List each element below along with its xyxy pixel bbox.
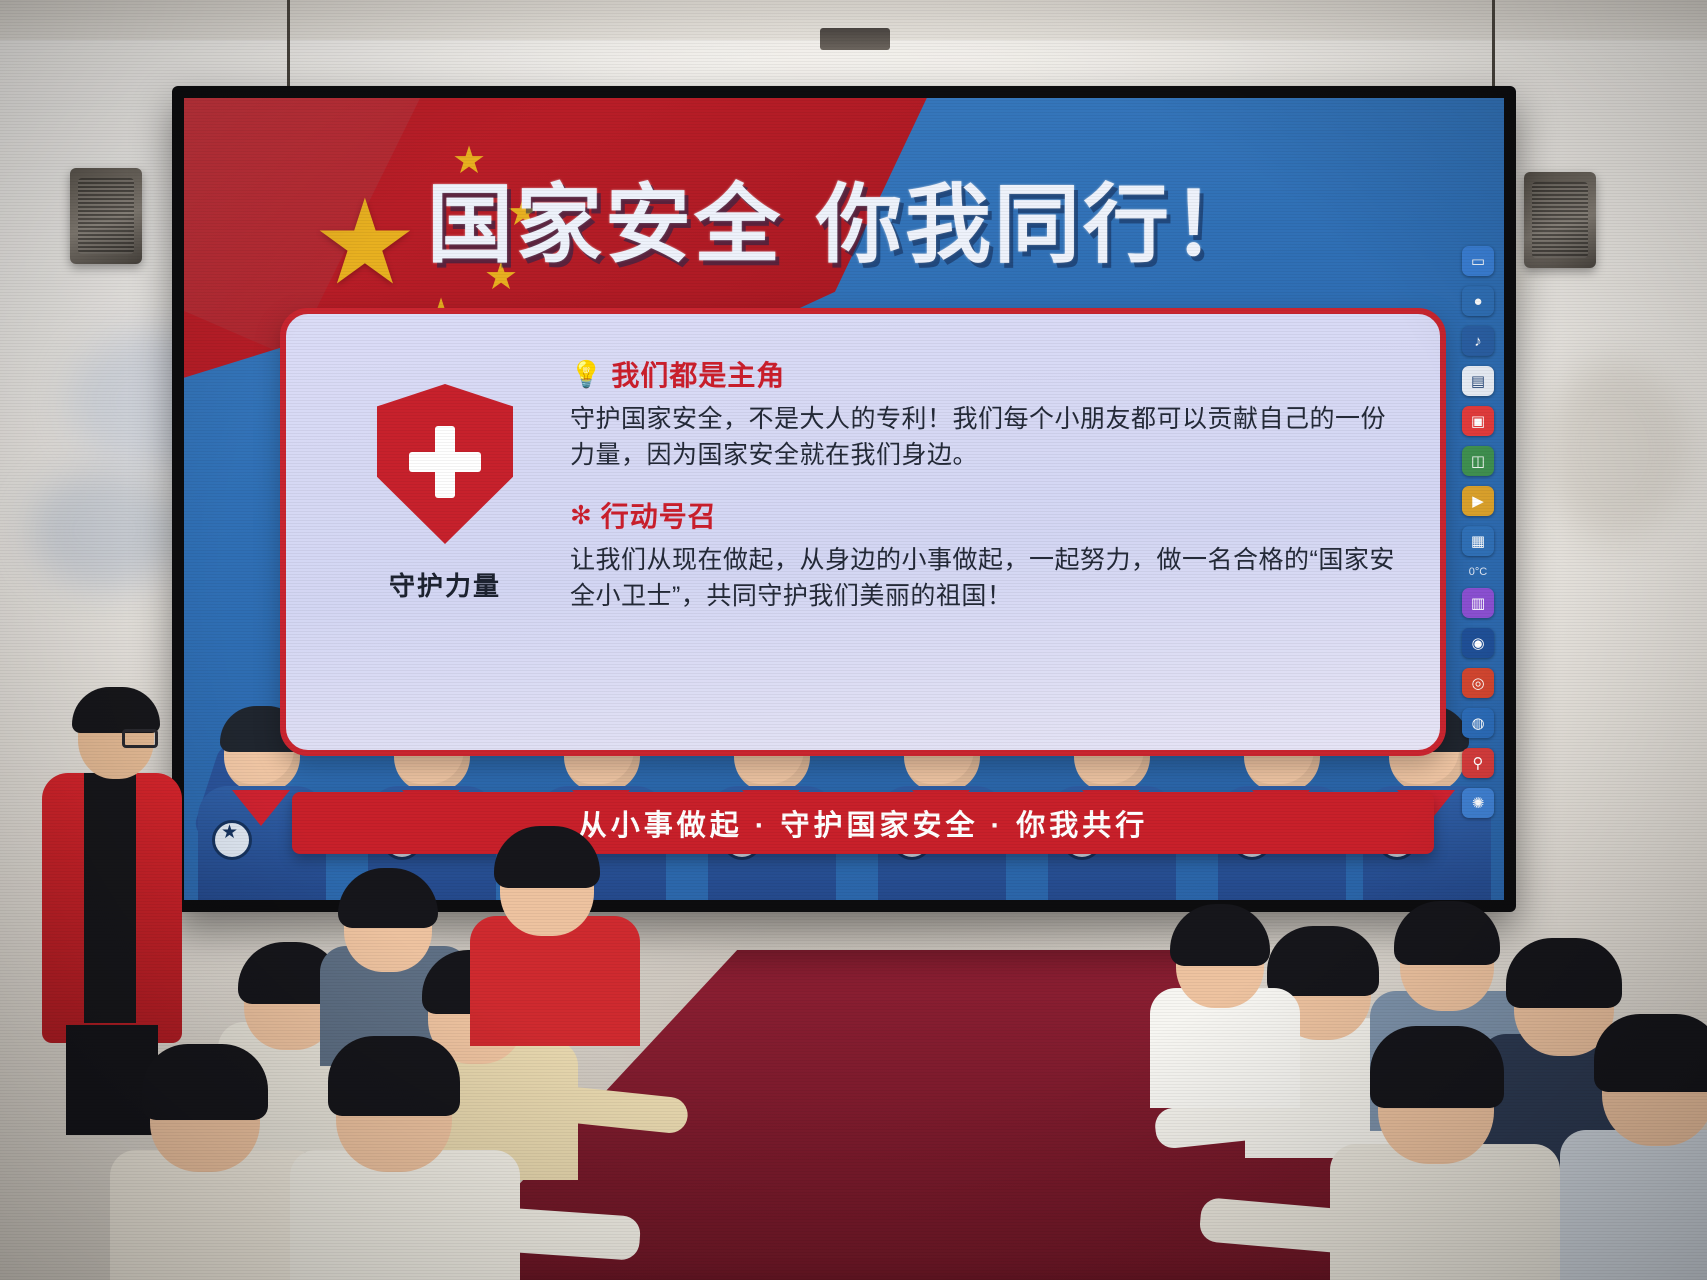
slide-text-column: 💡 我们都是主角 守护国家安全，不是大人的专利！我们每个小朋友都可以贡献自己的一…	[560, 350, 1396, 636]
section-1-heading: 💡 我们都是主角	[570, 354, 1396, 394]
list-item	[1560, 1000, 1707, 1280]
list-item	[290, 1020, 520, 1280]
screen-surface[interactable]: ★ ★ ★ ★ ★ 国家安全 你我同行！	[184, 98, 1504, 900]
camera-icon[interactable]: ▣	[1462, 406, 1494, 436]
whiteboard-app-rail[interactable]: ▭ ● ♪ ▤ ▣ ◫ ▶ ▦ 0°C ▥ ◉ ◎ ◍ ⚲ ✺	[1458, 246, 1498, 818]
ceiling-vent	[820, 28, 890, 50]
headphone-icon[interactable]: ◎	[1462, 668, 1494, 698]
lightbulb-icon: 💡	[570, 361, 603, 387]
section-2-heading-text: 行动号召	[601, 495, 717, 535]
user-icon[interactable]: ●	[1462, 286, 1494, 316]
target-icon[interactable]: ◍	[1462, 708, 1494, 738]
shield-cross-icon	[377, 384, 513, 544]
wall-stain-3	[1540, 360, 1690, 540]
interactive-whiteboard[interactable]: ★ ★ ★ ★ ★ 国家安全 你我同行！	[172, 86, 1516, 912]
classroom-scene: ★ ★ ★ ★ ★ 国家安全 你我同行！	[0, 0, 1707, 1280]
search-icon[interactable]: ⚲	[1462, 748, 1494, 778]
globe-icon[interactable]: ◉	[1462, 628, 1494, 658]
slide-footer-banner: 从小事做起 · 守护国家安全 · 你我共行	[292, 792, 1434, 854]
slide-title: 国家安全 你我同行！	[184, 154, 1504, 279]
sparkle-icon: ✻	[570, 502, 593, 528]
slide-footer-banner-text: 从小事做起 · 守护国家安全 · 你我共行	[578, 802, 1149, 844]
temperature-readout: 0°C	[1469, 566, 1487, 578]
list-item	[1330, 1010, 1560, 1280]
section-2-heading: ✻ 行动号召	[570, 495, 1396, 535]
shield-label: 守护力量	[389, 566, 501, 603]
speaker-left	[70, 168, 142, 264]
speaker-right	[1524, 172, 1596, 268]
shield-block: 守护力量	[330, 350, 560, 603]
screen-icon[interactable]: ▭	[1462, 246, 1494, 276]
slide-content-card: 守护力量 💡 我们都是主角 守护国家安全，不是大人的专利！我们每个小朋友都可以贡…	[280, 308, 1446, 756]
video-icon[interactable]: ▶	[1462, 486, 1494, 516]
grid-icon[interactable]: ▦	[1462, 526, 1494, 556]
wall-stain-2	[30, 470, 180, 590]
presenter-glasses	[122, 729, 158, 748]
list-item	[470, 820, 640, 1030]
settings-icon[interactable]: ✺	[1462, 788, 1494, 818]
list-item	[1150, 900, 1300, 1090]
section-1-heading-text: 我们都是主角	[611, 354, 785, 394]
document-icon[interactable]: ▤	[1462, 366, 1494, 396]
list-item	[110, 1030, 320, 1280]
book-icon[interactable]: ▥	[1462, 588, 1494, 618]
gallery-icon[interactable]: ◫	[1462, 446, 1494, 476]
section-1-body: 守护国家安全，不是大人的专利！我们每个小朋友都可以贡献自己的一份力量，因为国家安…	[570, 402, 1396, 473]
section-2-body: 让我们从现在做起，从身边的小事做起，一起努力，做一名合格的“国家安全小卫士”，共…	[570, 543, 1396, 614]
music-icon[interactable]: ♪	[1462, 326, 1494, 356]
